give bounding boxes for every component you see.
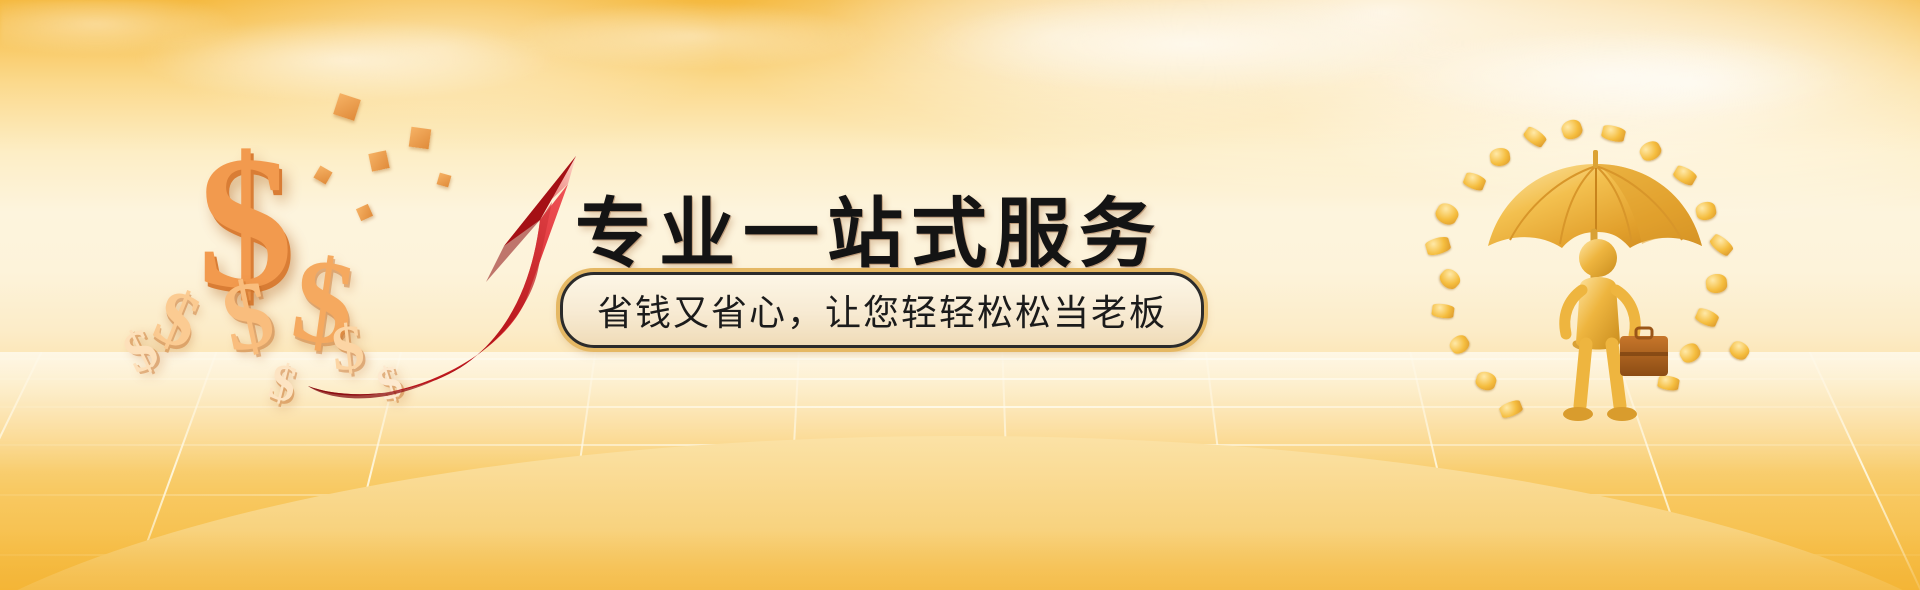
figure-foot-right (1607, 407, 1637, 421)
subtitle-pill: 省钱又省心，让您轻轻松松当老板 (560, 272, 1204, 348)
arrow-head-shade (486, 156, 576, 282)
briefcase-seam (1620, 352, 1668, 356)
subtitle-text: 省钱又省心，让您轻轻松松当老板 (597, 293, 1167, 334)
figure-leg-left (1580, 344, 1586, 406)
umbrella-tip (1593, 150, 1598, 168)
figure-foot-left (1563, 407, 1593, 421)
bottom-glow (0, 530, 1920, 590)
figure-leg-right (1612, 344, 1620, 406)
promotional-banner: $ $ $ $ $ $ $ $ (0, 0, 1920, 590)
figure-head (1579, 239, 1617, 277)
gold-businessman-with-umbrella-graphic (1430, 120, 1760, 450)
page-title: 专业一站式服务 (575, 172, 1163, 282)
umbrella-figure-svg (1430, 120, 1760, 450)
arrow-shadow (308, 202, 552, 398)
red-rising-arrow-graphic (290, 150, 610, 410)
floating-cube-icon (409, 127, 432, 150)
arrow-svg (290, 150, 610, 410)
